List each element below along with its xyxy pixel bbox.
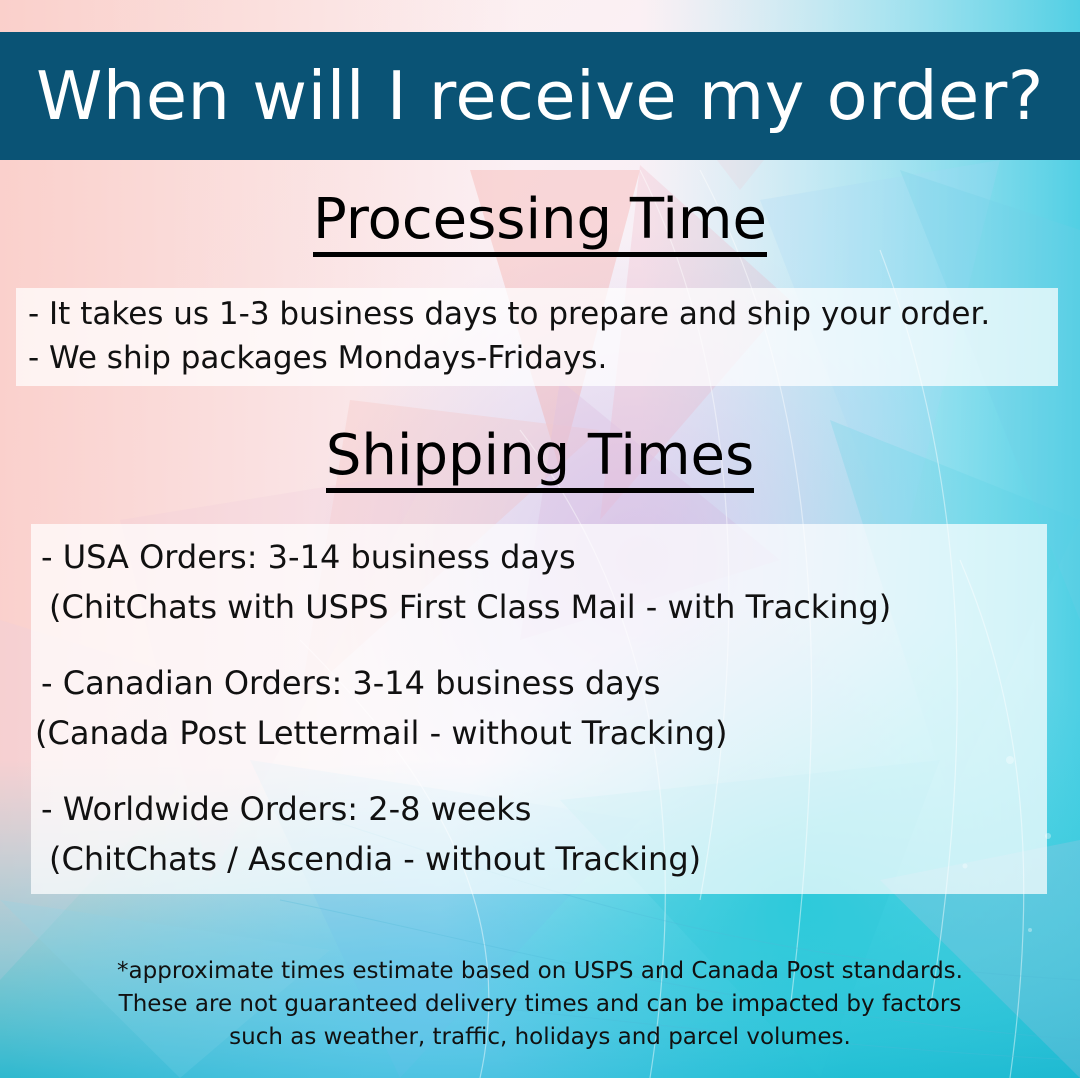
footnote-disclaimer: *approximate times estimate based on USP…: [0, 955, 1080, 1054]
shipping-group-title: - Canadian Orders: 3-14 business days: [31, 658, 1047, 708]
shipping-times-panel: - USA Orders: 3-14 business days (ChitCh…: [31, 524, 1047, 894]
processing-line: - We ship packages Mondays-Fridays.: [16, 336, 1058, 380]
shipping-group-detail: (Canada Post Lettermail - without Tracki…: [31, 708, 1047, 758]
section-heading-shipping: Shipping Times: [0, 428, 1080, 493]
shipping-group-title: - Worldwide Orders: 2-8 weeks: [31, 784, 1047, 834]
section-heading-processing: Processing Time: [0, 192, 1080, 257]
section-heading-processing-text: Processing Time: [313, 192, 767, 257]
header-banner: When will I receive my order?: [0, 32, 1080, 160]
section-heading-shipping-text: Shipping Times: [326, 428, 754, 493]
page-title: When will I receive my order?: [36, 63, 1044, 130]
footnote-line: such as weather, traffic, holidays and p…: [0, 1021, 1080, 1054]
shipping-group-canada: - Canadian Orders: 3-14 business days (C…: [31, 658, 1047, 758]
processing-time-panel: - It takes us 1-3 business days to prepa…: [16, 288, 1058, 386]
footnote-line: These are not guaranteed delivery times …: [0, 988, 1080, 1021]
shipping-group-title: - USA Orders: 3-14 business days: [31, 532, 1047, 582]
shipping-group-usa: - USA Orders: 3-14 business days (ChitCh…: [31, 532, 1047, 632]
shipping-group-worldwide: - Worldwide Orders: 2-8 weeks (ChitChats…: [31, 784, 1047, 884]
processing-line: - It takes us 1-3 business days to prepa…: [16, 292, 1058, 336]
shipping-group-detail: (ChitChats / Ascendia - without Tracking…: [31, 834, 1047, 884]
shipping-group-detail: (ChitChats with USPS First Class Mail - …: [31, 582, 1047, 632]
poster-canvas: When will I receive my order? Processing…: [0, 0, 1080, 1078]
footnote-line: *approximate times estimate based on USP…: [0, 955, 1080, 988]
